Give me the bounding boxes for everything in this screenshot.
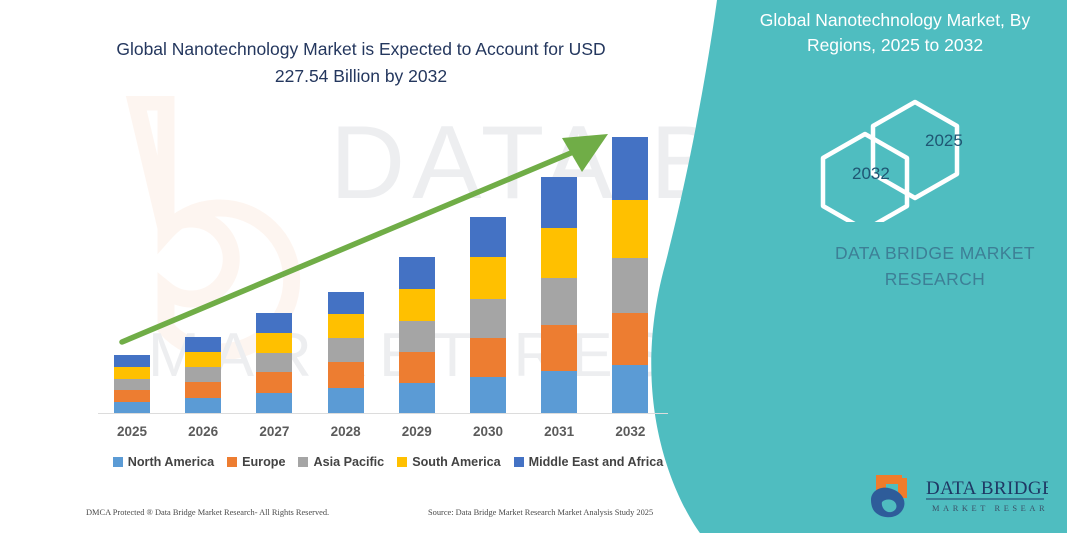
logo-b-mark <box>871 475 907 517</box>
legend-swatch-icon <box>113 457 123 467</box>
bar-segment-europe <box>256 372 292 393</box>
infographic-root: DATA BRIDGE MARKET RESEARCH Global Nanot… <box>0 0 1067 533</box>
bar-segment-north-america <box>399 383 435 413</box>
bar-segment-north-america <box>114 402 150 413</box>
hexagon-end-year-label: 2032 <box>852 164 890 184</box>
x-label-2032: 2032 <box>590 424 670 439</box>
legend-label: South America <box>412 455 500 469</box>
hexagon-start-year-label: 2025 <box>925 131 963 151</box>
footer-copyright: DMCA Protected ® Data Bridge Market Rese… <box>86 508 329 517</box>
legend-item-middle-east-and-africa[interactable]: Middle East and Africa <box>514 455 664 469</box>
x-label-2028: 2028 <box>306 424 386 439</box>
chart-legend: North AmericaEuropeAsia PacificSouth Ame… <box>98 455 678 469</box>
x-label-2031: 2031 <box>519 424 599 439</box>
stacked-bar-chart: 20252026202720282029203020312032 <box>0 0 715 500</box>
bar-segment-europe <box>114 390 150 402</box>
logo-tagline: MARKET RESEARCH <box>932 504 1048 513</box>
legend-label: Middle East and Africa <box>529 455 664 469</box>
bar-segment-north-america <box>612 365 648 413</box>
legend-swatch-icon <box>397 457 407 467</box>
trend-arrow-icon <box>96 120 636 360</box>
legend-item-south-america[interactable]: South America <box>397 455 500 469</box>
panel-title: Global Nanotechnology Market, By Regions… <box>735 8 1055 58</box>
bar-segment-north-america <box>185 398 221 413</box>
legend-swatch-icon <box>227 457 237 467</box>
x-label-2026: 2026 <box>163 424 243 439</box>
bar-segment-europe <box>185 382 221 398</box>
legend-label: Europe <box>242 455 285 469</box>
legend-item-asia-pacific[interactable]: Asia Pacific <box>298 455 384 469</box>
bar-segment-asia-pacific <box>114 379 150 390</box>
bar-segment-europe <box>328 362 364 388</box>
footer-source: Source: Data Bridge Market Research Mark… <box>428 508 653 517</box>
bar-segment-asia-pacific <box>185 367 221 382</box>
bar-segment-north-america <box>541 371 577 413</box>
legend-item-north-america[interactable]: North America <box>113 455 214 469</box>
legend-swatch-icon <box>514 457 524 467</box>
data-bridge-logo: DATA BRIDGE MARKET RESEARCH <box>868 472 1048 524</box>
x-axis-line <box>98 413 668 414</box>
legend-item-europe[interactable]: Europe <box>227 455 285 469</box>
x-label-2025: 2025 <box>92 424 172 439</box>
bar-segment-south-america <box>114 367 150 379</box>
bar-2025 <box>114 355 150 413</box>
panel-brand-text: DATA BRIDGE MARKET RESEARCH <box>790 240 1067 292</box>
x-label-2030: 2030 <box>448 424 528 439</box>
x-label-2027: 2027 <box>234 424 314 439</box>
legend-label: North America <box>128 455 214 469</box>
hexagon-group: 2025 2032 <box>820 92 1050 222</box>
legend-label: Asia Pacific <box>313 455 384 469</box>
legend-swatch-icon <box>298 457 308 467</box>
bar-segment-north-america <box>328 388 364 413</box>
bar-segment-north-america <box>470 377 506 413</box>
bar-segment-north-america <box>256 393 292 413</box>
logo-name: DATA BRIDGE <box>926 478 1048 499</box>
x-label-2029: 2029 <box>377 424 457 439</box>
